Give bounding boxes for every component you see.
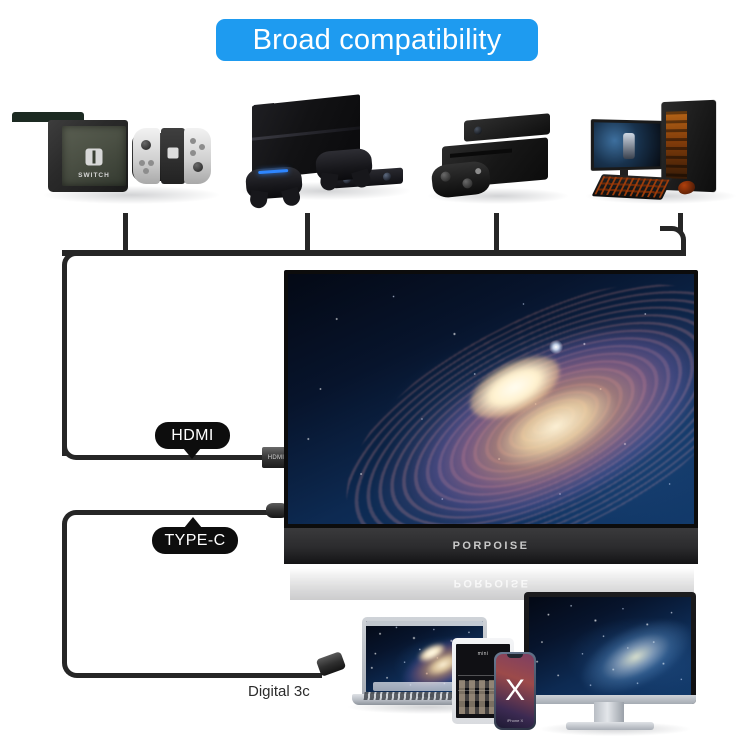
controller-grip-left-2 <box>249 190 268 209</box>
switch-dock: SWITCH <box>48 120 128 192</box>
typec-connector-head-bottom <box>316 651 347 677</box>
controller-light-bar <box>258 169 288 174</box>
typec-badge-label: TYPE-C <box>164 532 225 550</box>
imac-stand-foot <box>566 722 654 730</box>
joycon-left-dpad-icon <box>139 160 145 166</box>
hdmi-badge-label: HDMI <box>171 427 213 445</box>
monitor-screen <box>288 274 694 524</box>
imac-stand-neck <box>594 702 624 724</box>
iphone-model-label: iPhone X <box>496 718 534 723</box>
pc-monitor <box>591 119 663 171</box>
device-imac <box>524 592 696 704</box>
cable-drop-playstation <box>305 213 310 253</box>
infographic-canvas: Broad compatibility SWITCH <box>0 0 750 750</box>
xbox-stick-left-icon <box>440 171 451 182</box>
joycon-left-stick-icon <box>141 140 151 150</box>
typec-cable-vertical <box>62 531 67 659</box>
imac-panel <box>524 592 696 704</box>
typec-cable-run-bottom <box>86 673 322 678</box>
pc-tower-side-window <box>666 111 687 179</box>
imac-screen <box>529 597 691 695</box>
joycon-button-x-icon <box>190 138 196 144</box>
hdmi-badge: HDMI <box>155 422 230 449</box>
cable-drop-switch <box>123 213 128 253</box>
portable-monitor: PORPOISE <box>284 270 698 564</box>
switch-console-label: SWITCH <box>78 172 110 179</box>
iphone-screen: X iPhone X <box>496 654 534 728</box>
controller-grip-right-2 <box>281 187 302 208</box>
playstation-controller-1 <box>245 166 303 200</box>
macbook-menu-bar <box>366 621 483 626</box>
typec-cable-run-top <box>84 510 274 515</box>
joycon-left-dpad-icon-3 <box>143 168 149 174</box>
page-title-banner: Broad compatibility <box>216 19 538 61</box>
hdmi-cable-vertical <box>62 272 67 456</box>
cable-bus-horizontal <box>62 250 682 256</box>
joycon-right <box>184 128 211 184</box>
joycon-right-stick-icon <box>193 162 203 172</box>
playstation-controller-2 <box>315 148 373 183</box>
monitor-bottom-bezel: PORPOISE <box>284 528 698 564</box>
switch-console-screen: SWITCH <box>62 126 126 186</box>
pc-keyboard <box>592 174 673 200</box>
pc-monitor-screen <box>594 122 660 167</box>
typec-badge: TYPE-C <box>152 527 238 554</box>
joycon-center-body <box>161 128 185 184</box>
page-title: Broad compatibility <box>253 24 502 57</box>
cable-drop-xbox <box>494 213 499 253</box>
joycon-button-a-icon <box>199 144 205 150</box>
iphone-notch <box>507 654 523 658</box>
joycon-button-b-icon <box>190 150 196 156</box>
joycon-left-dpad-icon-2 <box>148 160 154 166</box>
monitor-brand-label: PORPOISE <box>453 540 530 552</box>
monitor-reflection-label: PORPOISE <box>454 577 531 589</box>
caption-digital-3c: Digital 3c <box>248 683 310 700</box>
nintendo-switch-logo-icon <box>86 149 103 166</box>
xbox-stick-right-icon <box>462 178 473 189</box>
galaxy-bright-star <box>549 340 563 354</box>
joycon-left <box>133 128 160 184</box>
hdmi-cable-run <box>84 455 266 460</box>
nintendo-switch-logo-icon-2 <box>168 147 179 158</box>
imac-galaxy-artwork <box>529 597 691 695</box>
iphone-x-logo: X <box>505 676 525 706</box>
xbox-button-icon <box>475 168 482 175</box>
device-iphone-x: X iPhone X <box>494 652 536 730</box>
galaxy-artwork <box>288 274 694 524</box>
